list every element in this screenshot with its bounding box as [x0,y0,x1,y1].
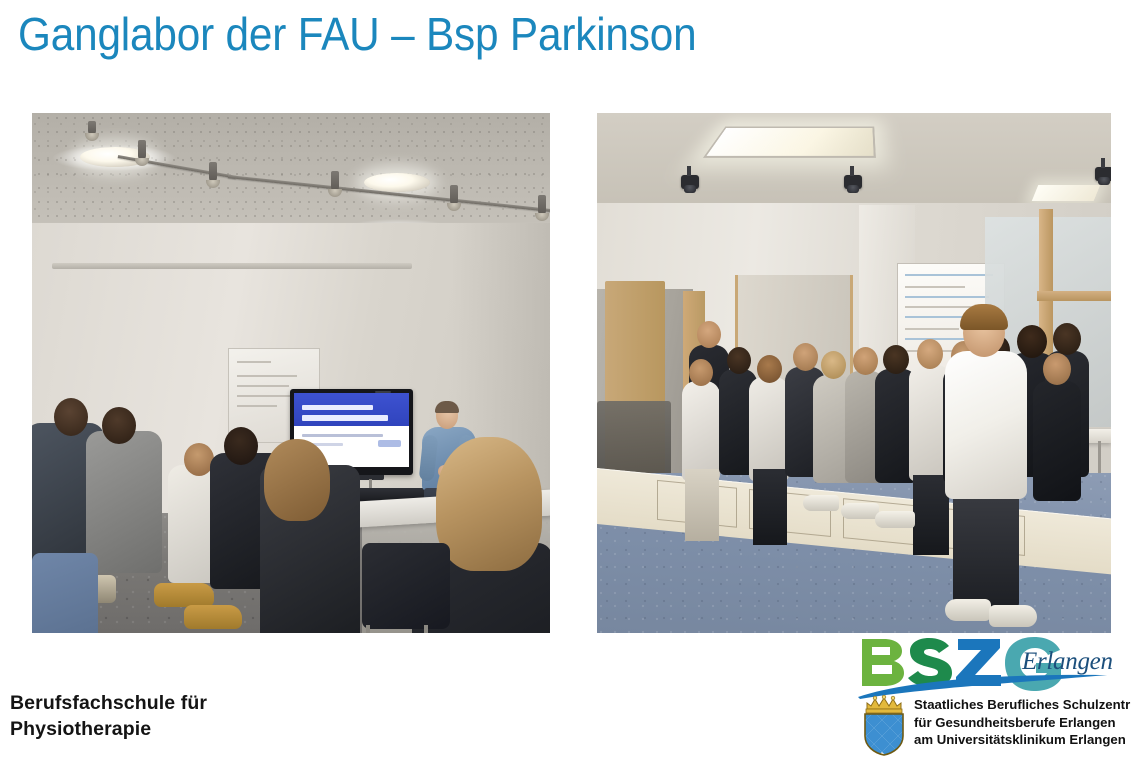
track-light [138,140,146,160]
chair-legs [366,625,428,633]
student-trousers [753,469,787,545]
student-hair-long-curly [264,439,330,521]
student-shoe [841,503,879,519]
student-head [102,407,136,444]
ceiling-spotlight [364,173,430,192]
student-foreground-legs [953,489,1019,609]
student-head [853,347,878,375]
classroom-lecture-photo [32,113,550,633]
student-hair-long-blonde [436,437,542,571]
student-jeans [32,553,98,633]
slide-headline-line-2 [302,415,388,421]
student-standing [682,381,720,481]
student-trousers [913,475,949,555]
bavarian-coat-of-arms-icon [860,694,908,756]
student-head [757,355,782,383]
student-head [883,345,909,374]
track-light [209,162,217,182]
gait-lab-photo [597,113,1111,633]
student-head [793,343,818,371]
crown-icon [866,695,902,713]
track-light [331,171,339,191]
ceiling-sprinkler [88,121,96,135]
page-title: Ganglabor der FAU – Bsp Parkinson [18,6,696,62]
student-shoe [803,495,839,511]
slide-logo [378,440,401,447]
motion-capture-camera [1095,167,1111,181]
student-head [224,427,258,465]
motion-capture-camera [681,175,699,189]
school-caption: Berufsfachschule für Physiotherapie [10,690,207,742]
student-standing [749,377,789,481]
logo-subtitle-line-2: für Gesundheitsberufe Erlangen [914,714,1131,732]
student-head [917,339,943,369]
presenter-hair [435,401,459,413]
student-head-braids [1017,325,1047,358]
ceiling [32,113,550,231]
student-head [54,398,88,436]
logo-subtitle-line-1: Staatliches Berufliches Schulzentrum [914,696,1131,714]
instructor-head [697,321,721,348]
student-head [727,347,751,374]
logo-subtitle-line-3: am Universitätsklinikum Erlangen [914,731,1131,749]
student-shoe [875,511,915,528]
logo-subtitle: Staatliches Berufliches Schulzentrum für… [914,696,1131,749]
student-head [821,351,846,379]
student-head [689,359,713,386]
student-head [1043,353,1071,385]
chair-backrest [362,543,450,629]
slide-body-line-1 [302,434,383,438]
motion-capture-camera [844,175,862,189]
student-foreground-torso [945,351,1027,499]
school-caption-line-1: Berufsfachschule für [10,690,207,716]
track-light [450,185,458,205]
slide-headline-line-1 [302,405,373,411]
wall-trim [52,263,412,269]
track-light [538,195,546,215]
logo-script-erlangen: Erlangen [1022,648,1113,676]
ceiling-panel-light [1032,185,1100,201]
student-trousers [685,469,719,541]
student-foreground-shoe [945,599,991,621]
wooden-shelf [1037,291,1111,301]
student-head [1053,323,1081,355]
bszg-logo: Erlangen [858,636,1131,760]
student-seated-right [1033,381,1081,501]
student-shoe [184,605,242,629]
student-foreground-shoe [989,605,1037,627]
student-seated [86,431,162,573]
student-shoe [154,583,214,607]
school-caption-line-2: Physiotherapie [10,716,207,742]
ceiling-panel-light [703,126,876,157]
